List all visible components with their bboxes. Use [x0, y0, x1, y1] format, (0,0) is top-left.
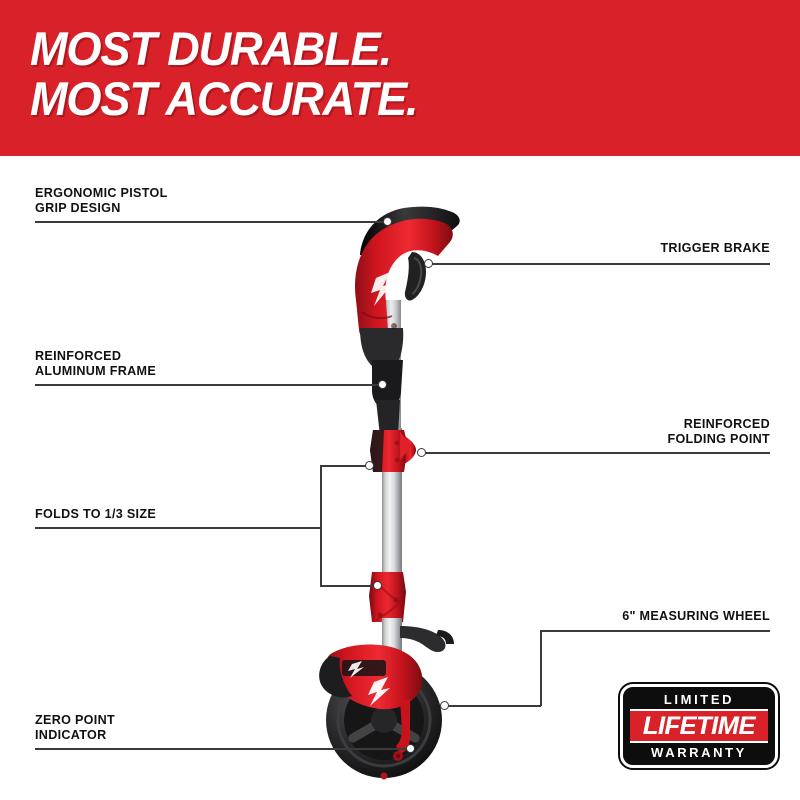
headline-line-1: MOST DURABLE. [30, 24, 740, 74]
leader-dot-zero-point [406, 744, 415, 753]
header-banner: MOST DURABLE. MOST ACCURATE. [0, 0, 800, 156]
badge-lifetime-band: LIFETIME [630, 709, 768, 743]
badge-limited-text: LIMITED [664, 692, 734, 707]
lifetime-warranty-badge: LIMITED LIFETIME WARRANTY [620, 684, 778, 768]
leader-dot-measuring-wheel [440, 701, 449, 710]
callout-folds-to-third-line-1: FOLDS TO 1/3 SIZE [35, 507, 156, 522]
leader-line-measuring-wheel-drop [540, 630, 542, 706]
callout-folding-point-line-2: FOLDING POINT [667, 432, 770, 447]
leader-bracket-folds [320, 465, 322, 587]
callout-ergonomic-grip-line-2: GRIP DESIGN [35, 201, 168, 216]
callout-reinforced-frame: REINFORCED ALUMINUM FRAME [35, 349, 156, 379]
badge-warranty-text: WARRANTY [651, 745, 747, 760]
callout-measuring-wheel-line-1: 6" MEASURING WHEEL [622, 609, 770, 624]
infographic-page: MOST DURABLE. MOST ACCURATE. [0, 0, 800, 800]
leader-line-folds-top-arm [320, 465, 367, 467]
callout-ergonomic-grip: ERGONOMIC PISTOL GRIP DESIGN [35, 186, 168, 216]
leader-line-reinforced-frame [35, 384, 380, 386]
leader-line-folding-point [425, 452, 770, 454]
callout-folding-point-line-1: REINFORCED [667, 417, 770, 432]
callout-reinforced-frame-line-2: ALUMINUM FRAME [35, 364, 156, 379]
leader-line-zero-point [35, 748, 410, 750]
leader-dot-folds-top [365, 461, 374, 470]
callout-folds-to-third: FOLDS TO 1/3 SIZE [35, 507, 156, 522]
leader-dot-trigger-brake [424, 259, 433, 268]
callout-trigger-brake-line-1: TRIGGER BRAKE [660, 241, 770, 256]
product-illustration [300, 160, 520, 780]
badge-lifetime-text: LIFETIME [643, 714, 755, 739]
callout-reinforced-frame-line-1: REINFORCED [35, 349, 156, 364]
callout-trigger-brake: TRIGGER BRAKE [660, 241, 770, 256]
leader-line-folds-stem [35, 527, 322, 529]
callout-zero-point-line-2: INDICATOR [35, 728, 115, 743]
callout-measuring-wheel: 6" MEASURING WHEEL [622, 609, 770, 624]
callout-zero-point: ZERO POINT INDICATOR [35, 713, 115, 743]
callout-ergonomic-grip-line-1: ERGONOMIC PISTOL [35, 186, 168, 201]
leader-line-measuring-wheel-top [540, 630, 770, 632]
callout-folding-point: REINFORCED FOLDING POINT [667, 417, 770, 447]
headline-line-2: MOST ACCURATE. [30, 74, 740, 124]
leader-dot-ergonomic-grip [383, 217, 392, 226]
leader-line-ergonomic-grip [35, 221, 387, 223]
leader-dot-folds-bottom [373, 581, 382, 590]
leader-dot-reinforced-frame [378, 380, 387, 389]
callout-zero-point-line-1: ZERO POINT [35, 713, 115, 728]
leader-dot-folding-point [417, 448, 426, 457]
headline: MOST DURABLE. MOST ACCURATE. [30, 24, 740, 124]
leader-line-folds-bottom-arm [320, 585, 375, 587]
leader-line-trigger-brake [432, 263, 770, 265]
leader-line-measuring-wheel-arm [448, 705, 541, 707]
